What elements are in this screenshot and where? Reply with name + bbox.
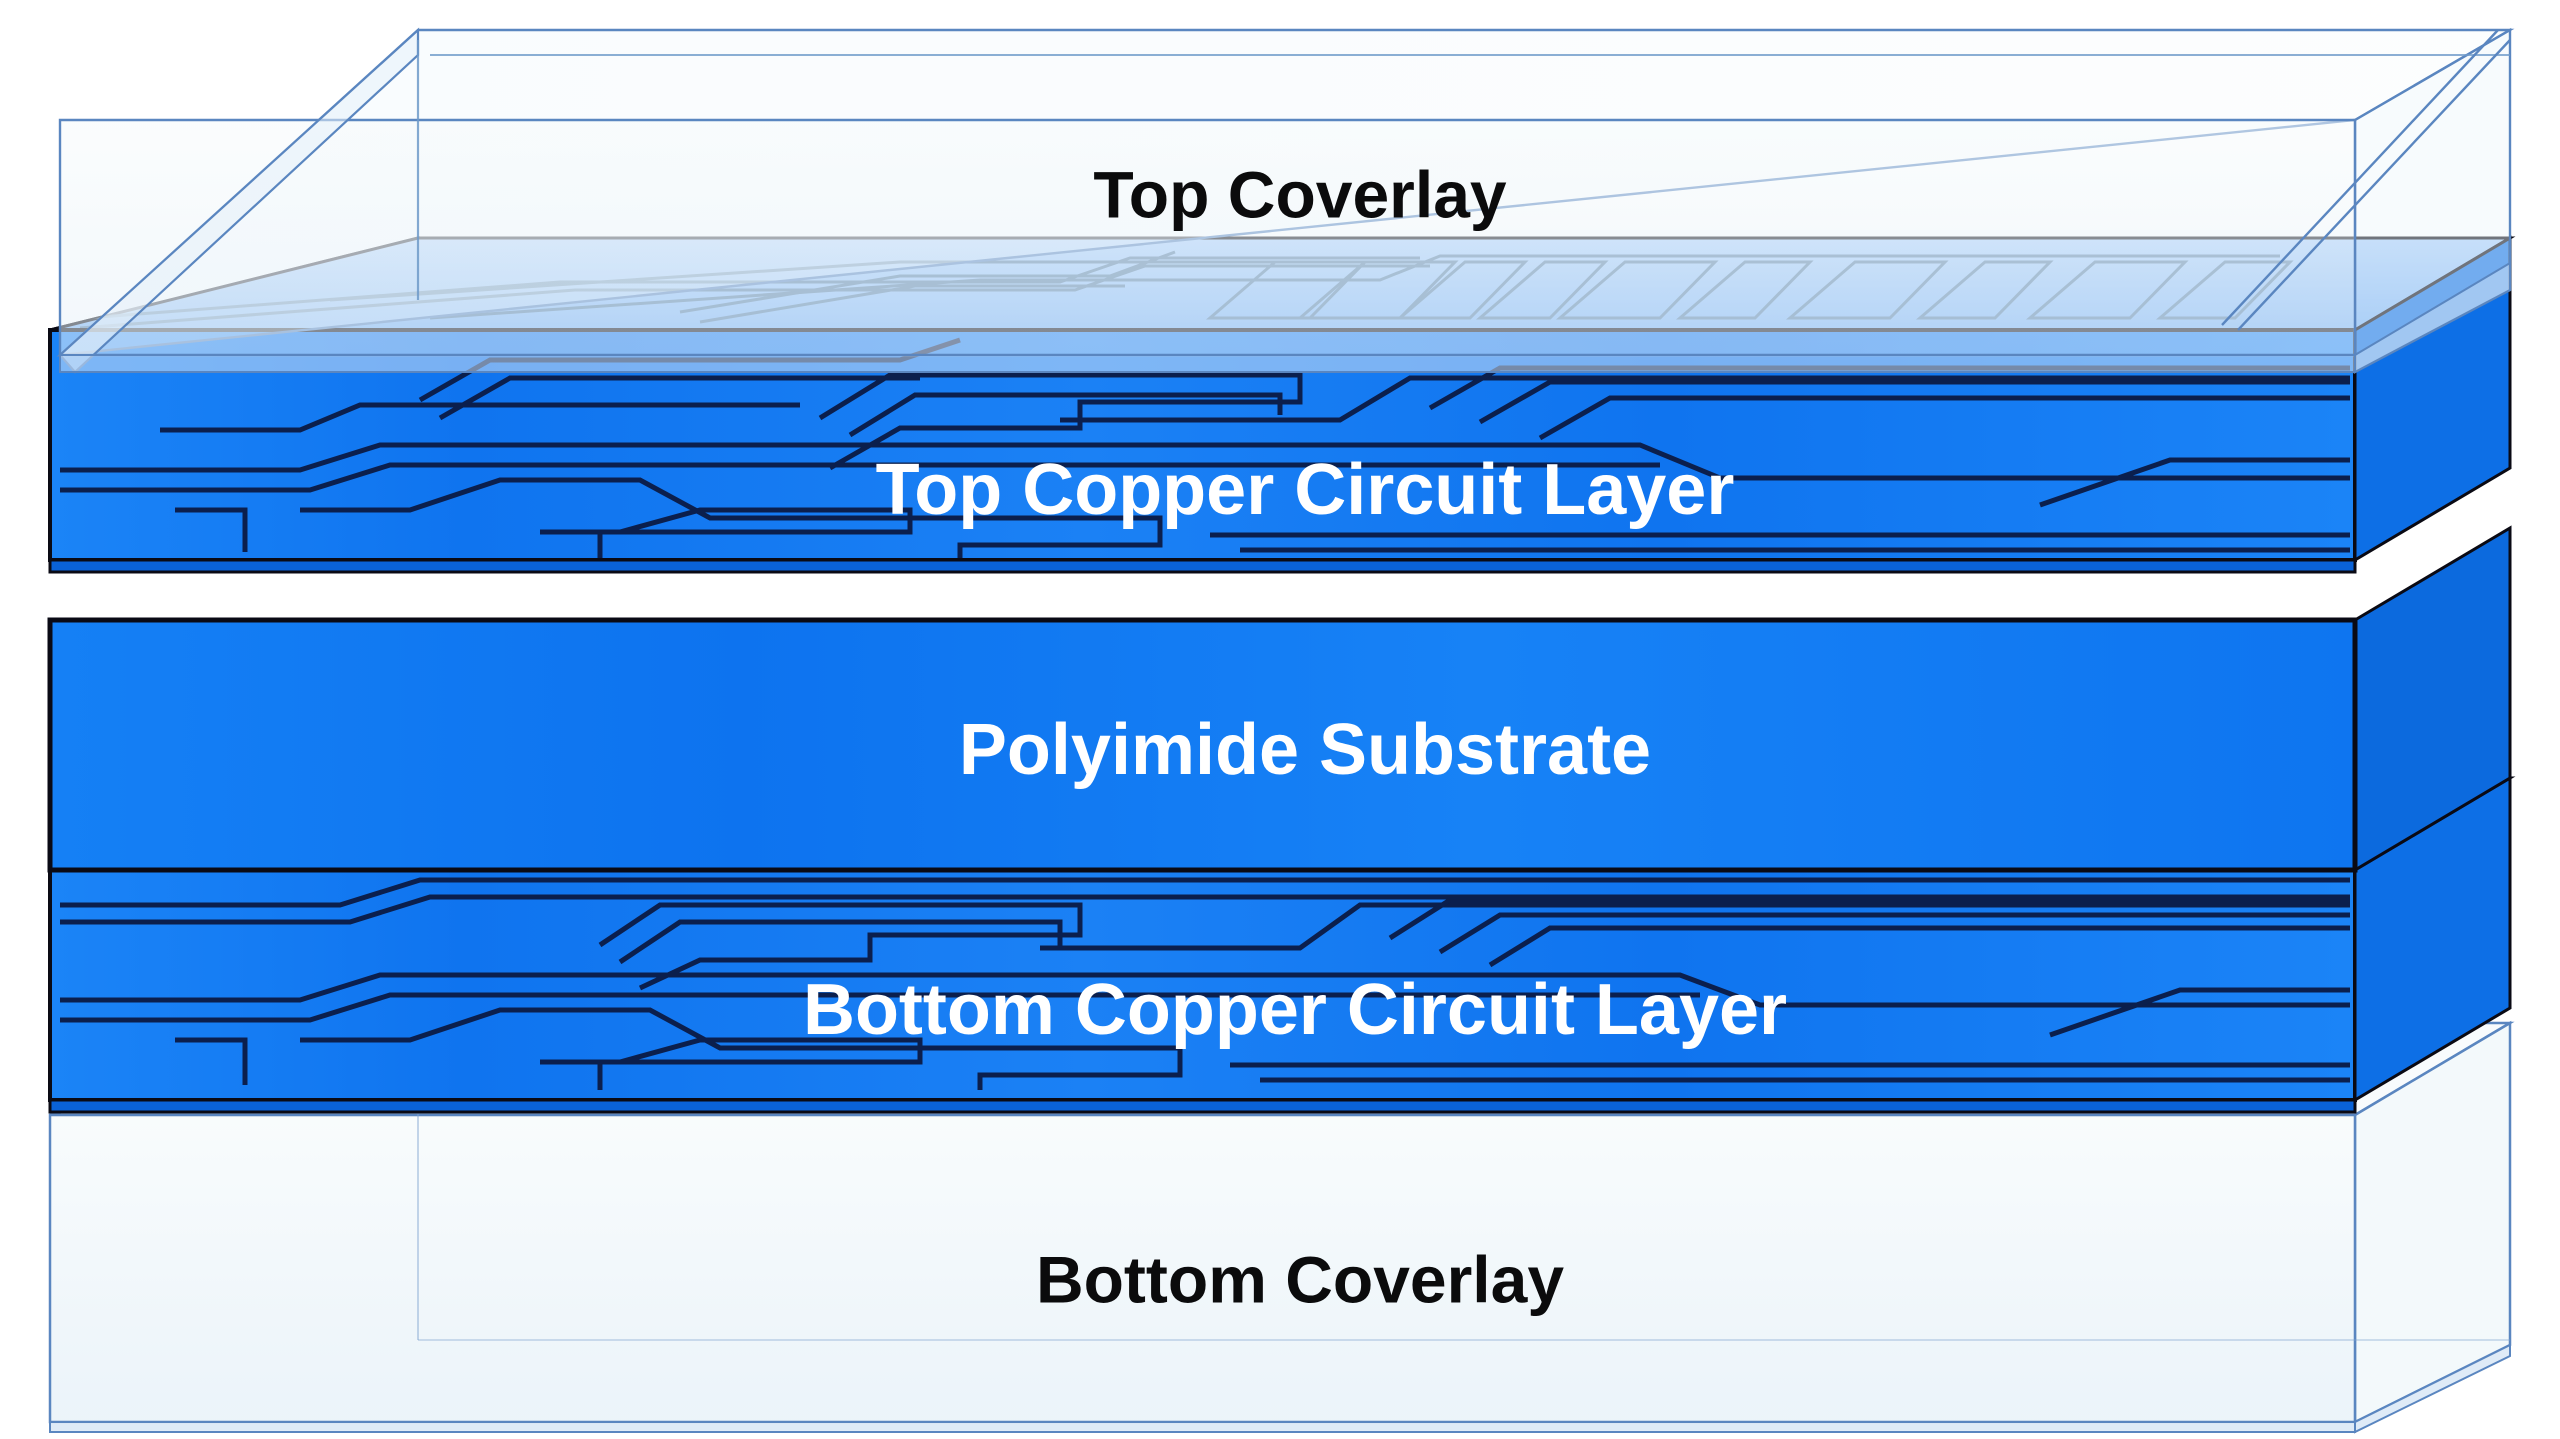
top-coverlay-front-face xyxy=(60,120,2355,355)
stackup-svg: Bottom Coverlay xyxy=(0,0,2560,1439)
top-coverlay-lower-band xyxy=(60,355,2355,372)
top-copper-label: Top Copper Circuit Layer xyxy=(876,450,1735,530)
layer-polyimide-substrate[interactable]: Polyimide Substrate xyxy=(50,528,2510,870)
bottom-coverlay-bottom-edge xyxy=(50,1422,2355,1432)
layer-top-coverlay[interactable]: Top Coverlay xyxy=(60,30,2510,372)
bottom-coverlay-label: Bottom Coverlay xyxy=(1036,1242,1564,1316)
substrate-label: Polyimide Substrate xyxy=(959,710,1651,790)
bottom-copper-bottom-edge xyxy=(50,1100,2355,1112)
bottom-copper-label: Bottom Copper Circuit Layer xyxy=(803,970,1787,1050)
stackup-diagram-canvas: Bottom Coverlay xyxy=(0,0,2560,1439)
top-copper-bottom-edge xyxy=(50,560,2355,572)
top-coverlay-label: Top Coverlay xyxy=(1093,157,1507,231)
